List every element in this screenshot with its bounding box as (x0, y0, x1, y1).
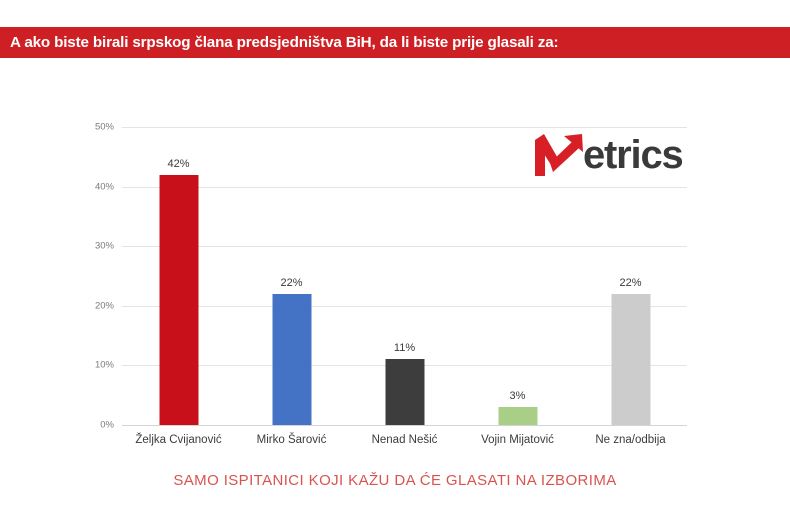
bar-vojin-mijatovic[interactable] (498, 407, 537, 425)
ytick-label-10: 10% (95, 360, 114, 371)
gridline-0: 0% (122, 425, 687, 426)
category-label-4: Ne zna/odbija (595, 434, 665, 446)
bar-group-3: 3% Vojin Mijatović (461, 127, 574, 425)
ytick-label-0: 0% (100, 420, 114, 431)
bar-group-4: 22% Ne zna/odbija (574, 127, 687, 425)
ytick-label-20: 20% (95, 300, 114, 311)
bar-ne-zna-odbija[interactable] (611, 294, 650, 425)
category-label-1: Mirko Šarović (257, 434, 327, 446)
bar-nenad-nesic[interactable] (385, 359, 424, 425)
bar-value-label-2: 11% (394, 342, 415, 354)
ytick-label-30: 30% (95, 241, 114, 252)
footer-caption: SAMO ISPITANICI KOJI KAŽU DA ĆE GLASATI … (0, 472, 790, 489)
bar-value-label-4: 22% (619, 277, 641, 289)
bar-value-label-3: 3% (510, 390, 526, 402)
bar-mirko-sarovic[interactable] (272, 294, 311, 425)
title-banner: A ako biste birali srpskog člana predsje… (0, 27, 790, 58)
ytick-label-50: 50% (95, 122, 114, 133)
category-label-2: Nenad Nešić (372, 434, 438, 446)
bar-zeljka-cvijanovic[interactable] (159, 175, 198, 425)
plot-area: 50% 40% 30% 20% 10% 0% 42% Željka Cvijan… (122, 127, 687, 425)
page-title: A ako biste birali srpskog člana predsje… (10, 34, 558, 51)
bar-value-label-0: 42% (167, 158, 189, 170)
bar-group-1: 22% Mirko Šarović (235, 127, 348, 425)
bar-group-2: 11% Nenad Nešić (348, 127, 461, 425)
bar-group-0: 42% Željka Cvijanović (122, 127, 235, 425)
category-label-0: Željka Cvijanović (135, 434, 221, 446)
ytick-label-40: 40% (95, 181, 114, 192)
bar-value-label-1: 22% (280, 277, 302, 289)
category-label-3: Vojin Mijatović (481, 434, 554, 446)
bar-chart: etrics 50% 40% 30% 20% 10% 0% 42% Željka… (0, 58, 790, 516)
